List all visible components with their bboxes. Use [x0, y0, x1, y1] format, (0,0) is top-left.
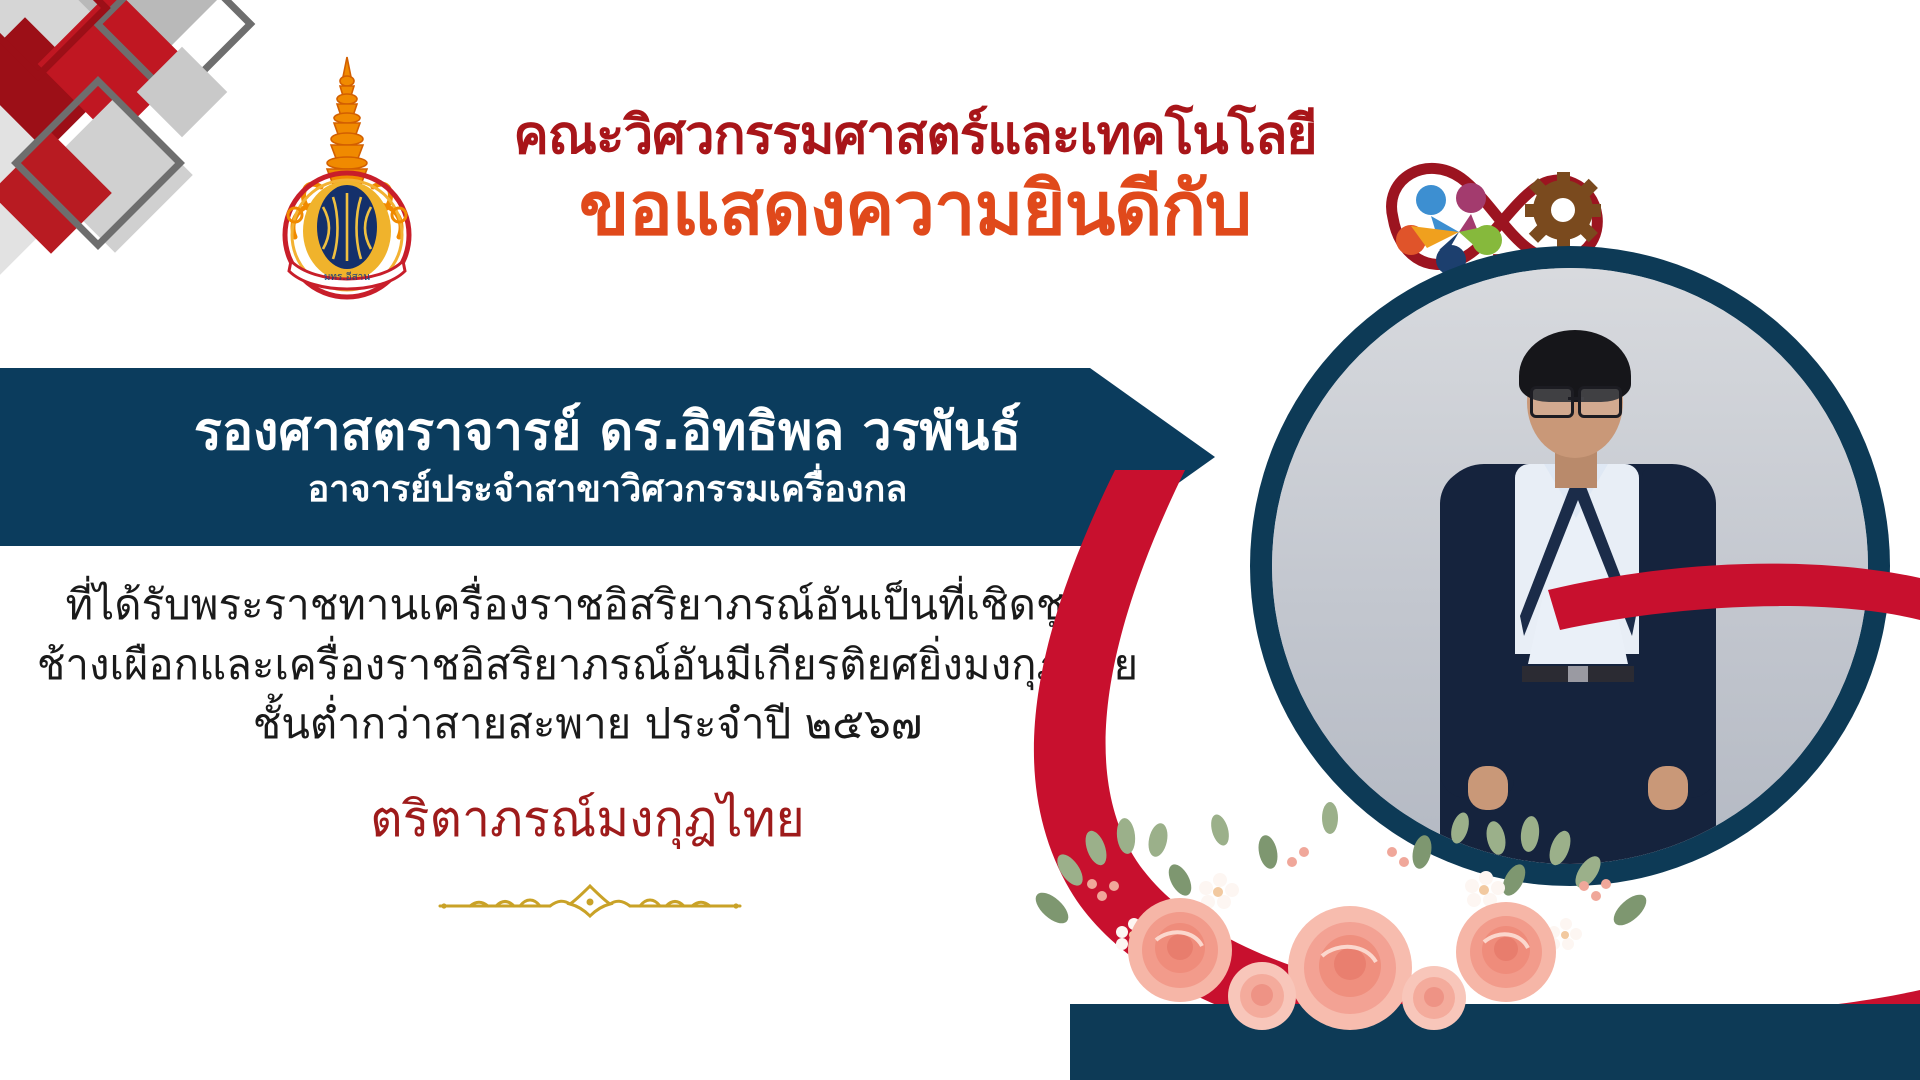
citation-line-2: ช้างเผือกและเครื่องราชอิสริยาภรณ์อันมีเก…: [0, 635, 1175, 695]
ornament-divider-icon: [400, 880, 780, 926]
citation-line-3: ชั้นต่ำกว่าสายสะพาย ประจำปี ๒๕๖๗: [0, 694, 1175, 754]
citation-line-1: ที่ได้รับพระราชทานเครื่องราชอิสริยาภรณ์อ…: [0, 575, 1175, 635]
svg-text:มทร.อีสาน: มทร.อีสาน: [324, 271, 370, 283]
portrait-belt-buckle: [1568, 666, 1588, 682]
portrait-photo: [1272, 268, 1868, 864]
honoree-role: อาจารย์ประจำสาขาวิศวกรรมเครื่องกล: [308, 468, 908, 511]
portrait-glasses-icon: [1530, 386, 1622, 412]
citation-text: ที่ได้รับพระราชทานเครื่องราชอิสริยาภรณ์อ…: [0, 575, 1175, 754]
header-text-block: คณะวิศวกรรมศาสตร์และเทคโนโลยี ขอแสดงความ…: [465, 108, 1365, 251]
faculty-name: คณะวิศวกรรมศาสตร์และเทคโนโลยี: [465, 108, 1365, 164]
certificate-canvas: มทร.อีสาน คณะวิศวกรรมศาสตร์และเทคโนโลยี …: [0, 0, 1920, 1080]
university-seal-icon: มทร.อีสาน: [255, 55, 440, 300]
award-name: ตริตาภรณ์มงกุฎไทย: [0, 780, 1175, 859]
congratulations-heading: ขอแสดงความยินดีกับ: [465, 168, 1365, 251]
portrait-arm-left: [1440, 468, 1514, 798]
floral-decoration: [1030, 800, 1670, 1040]
honoree-banner: รองศาสตราจารย์ ดร.อิทธิพล วรพันธ์ อาจารย…: [0, 368, 1215, 546]
portrait-arm-right: [1642, 468, 1716, 798]
honoree-name: รองศาสตราจารย์ ดร.อิทธิพล วรพันธ์: [194, 403, 1021, 461]
